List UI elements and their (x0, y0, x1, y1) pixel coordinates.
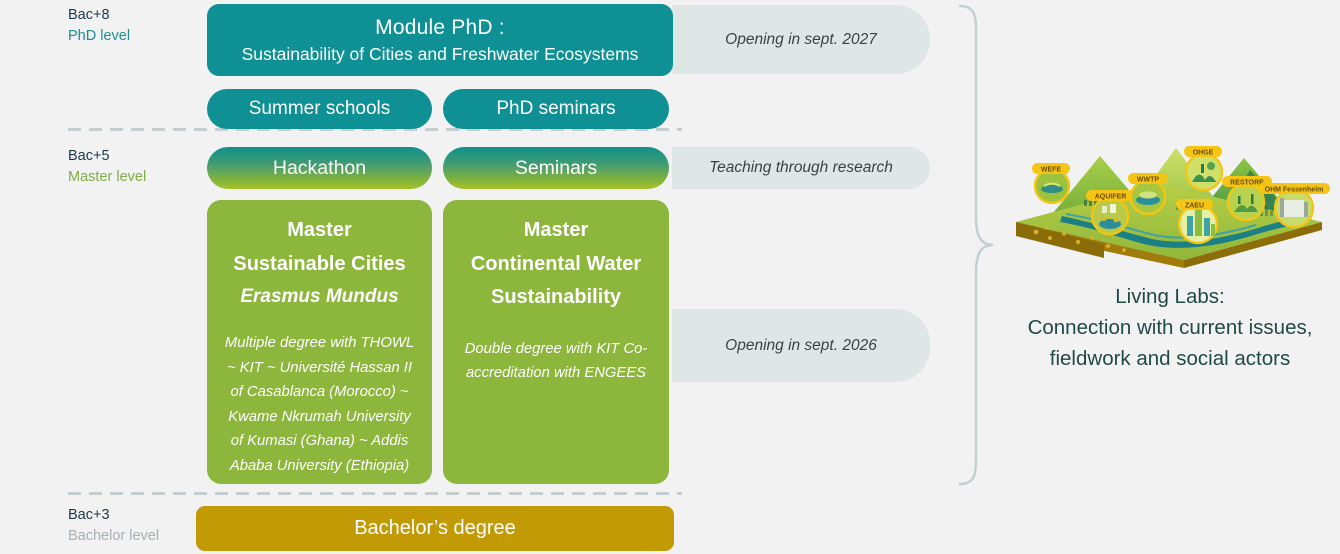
svg-text:OHM Fessenheim: OHM Fessenheim (1265, 186, 1324, 193)
level-code-phd: Bac+8 (68, 5, 203, 26)
site-marker-wwtp: WWTP (1128, 173, 1168, 214)
diagram-root: Bac+8 PhD level Bac+5 Master level Bac+3… (0, 0, 1340, 554)
level-name-master: Master level (68, 167, 203, 188)
level-label-phd: Bac+8 PhD level (68, 5, 203, 47)
info-pill-opening-2026: Opening in sept. 2026 (672, 309, 930, 382)
living-labs-caption-line3: fieldwork and social actors (984, 343, 1340, 374)
svg-text:WEFE: WEFE (1041, 166, 1062, 173)
program-box-phd-seminars[interactable]: PhD seminars (443, 89, 669, 129)
grouping-brace (946, 0, 996, 505)
program-box-master-sustainable-cities[interactable]: Master Sustainable Cities Erasmus Mundus… (207, 200, 432, 484)
divider-bac3 (68, 492, 682, 495)
living-labs-illustration: WEFE AQUIFER WWTP (1008, 140, 1330, 275)
phd-module-title: Module PhD : (375, 14, 505, 42)
site-marker-zaeu: ZAEU (1176, 199, 1217, 243)
level-label-bachelor: Bac+3 Bachelor level (68, 505, 203, 547)
program-box-hackathon[interactable]: Hackathon (207, 147, 432, 189)
master-water-title-line1: Master (524, 214, 588, 248)
info-pill-opening-2026-label: Opening in sept. 2026 (725, 337, 877, 355)
program-box-summer-schools[interactable]: Summer schools (207, 89, 432, 129)
living-labs-caption-line2: Connection with current issues, (984, 312, 1340, 343)
master-cities-title-line2: Sustainable Cities (233, 248, 405, 282)
info-pill-teaching-label: Teaching through research (709, 159, 893, 177)
program-box-seminars[interactable]: Seminars (443, 147, 669, 189)
phd-module-subtitle: Sustainability of Cities and Freshwater … (242, 42, 639, 66)
living-labs-caption: Living Labs: Connection with current iss… (984, 281, 1340, 374)
level-code-master: Bac+5 (68, 146, 203, 167)
program-box-bachelor-degree[interactable]: Bachelor’s degree (196, 506, 674, 551)
site-marker-ohge: OHGE (1184, 146, 1222, 190)
master-water-title-line2: Continental Water (471, 248, 641, 282)
svg-text:AQUIFER: AQUIFER (1095, 193, 1127, 200)
site-marker-wefe: WEFE (1032, 163, 1070, 203)
master-cities-title-line1: Master (287, 214, 351, 248)
seminars-label: Seminars (515, 157, 597, 180)
master-cities-note: Multiple degree with THOWL ~ KIT ~ Unive… (219, 331, 420, 478)
master-water-note: Double degree with KIT Co-accreditation … (455, 337, 657, 386)
landscape-illustration-icon: WEFE AQUIFER WWTP (1008, 140, 1330, 270)
program-box-phd-module[interactable]: Module PhD : Sustainability of Cities an… (207, 4, 673, 76)
bachelor-degree-label: Bachelor’s degree (354, 517, 516, 540)
living-labs-caption-line1: Living Labs: (984, 281, 1340, 312)
program-box-master-continental-water[interactable]: Master Continental Water Sustainability … (443, 200, 669, 484)
level-name-phd: PhD level (68, 26, 203, 47)
svg-text:OHGE: OHGE (1193, 149, 1214, 156)
brace-icon (946, 0, 996, 500)
hackathon-label: Hackathon (273, 157, 366, 180)
master-water-title-line3: Sustainability (491, 281, 621, 315)
master-cities-subtitle: Erasmus Mundus (240, 281, 398, 313)
svg-text:ZAEU: ZAEU (1185, 202, 1204, 209)
level-name-bachelor: Bachelor level (68, 526, 203, 547)
summer-schools-label: Summer schools (249, 98, 391, 120)
phd-seminars-label: PhD seminars (496, 98, 615, 120)
svg-text:WWTP: WWTP (1137, 176, 1159, 183)
level-label-master: Bac+5 Master level (68, 146, 203, 188)
info-pill-opening-2027: Opening in sept. 2027 (672, 5, 930, 74)
info-pill-opening-2027-label: Opening in sept. 2027 (725, 31, 877, 49)
info-pill-teaching-through-research: Teaching through research (672, 147, 930, 189)
level-code-bachelor: Bac+3 (68, 505, 203, 526)
